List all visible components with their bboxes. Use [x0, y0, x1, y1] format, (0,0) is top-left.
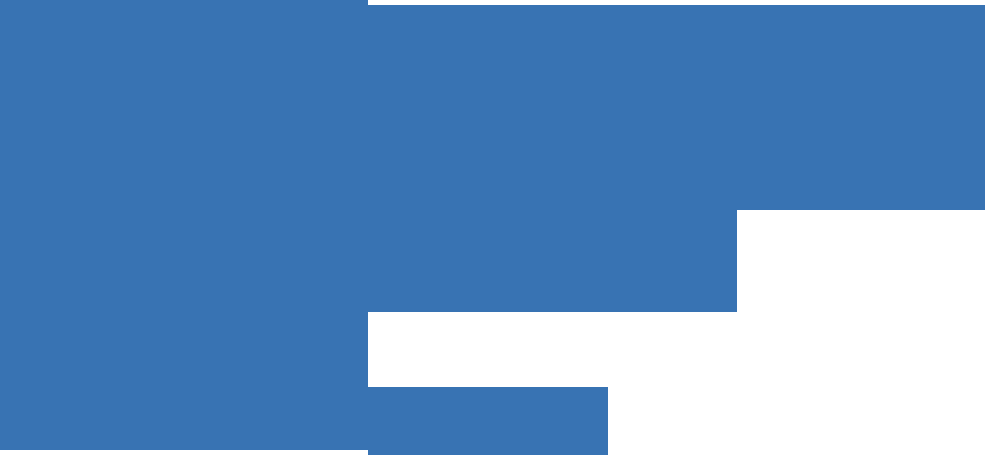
- mid-band-panel: [368, 210, 737, 312]
- top-band-panel: [368, 5, 985, 210]
- screen-canvas: Blank loading state: solid blue stepped …: [0, 0, 985, 455]
- top-gap-spacer: [368, 0, 985, 5]
- bottom-left-gap-spacer: [0, 450, 368, 455]
- right-gap-spacer: [737, 210, 985, 312]
- mid-gap-spacer: [368, 312, 985, 387]
- bottom-right-gap-spacer: [608, 387, 985, 455]
- left-column-panel: [0, 0, 368, 450]
- bottom-block-panel: [368, 387, 608, 455]
